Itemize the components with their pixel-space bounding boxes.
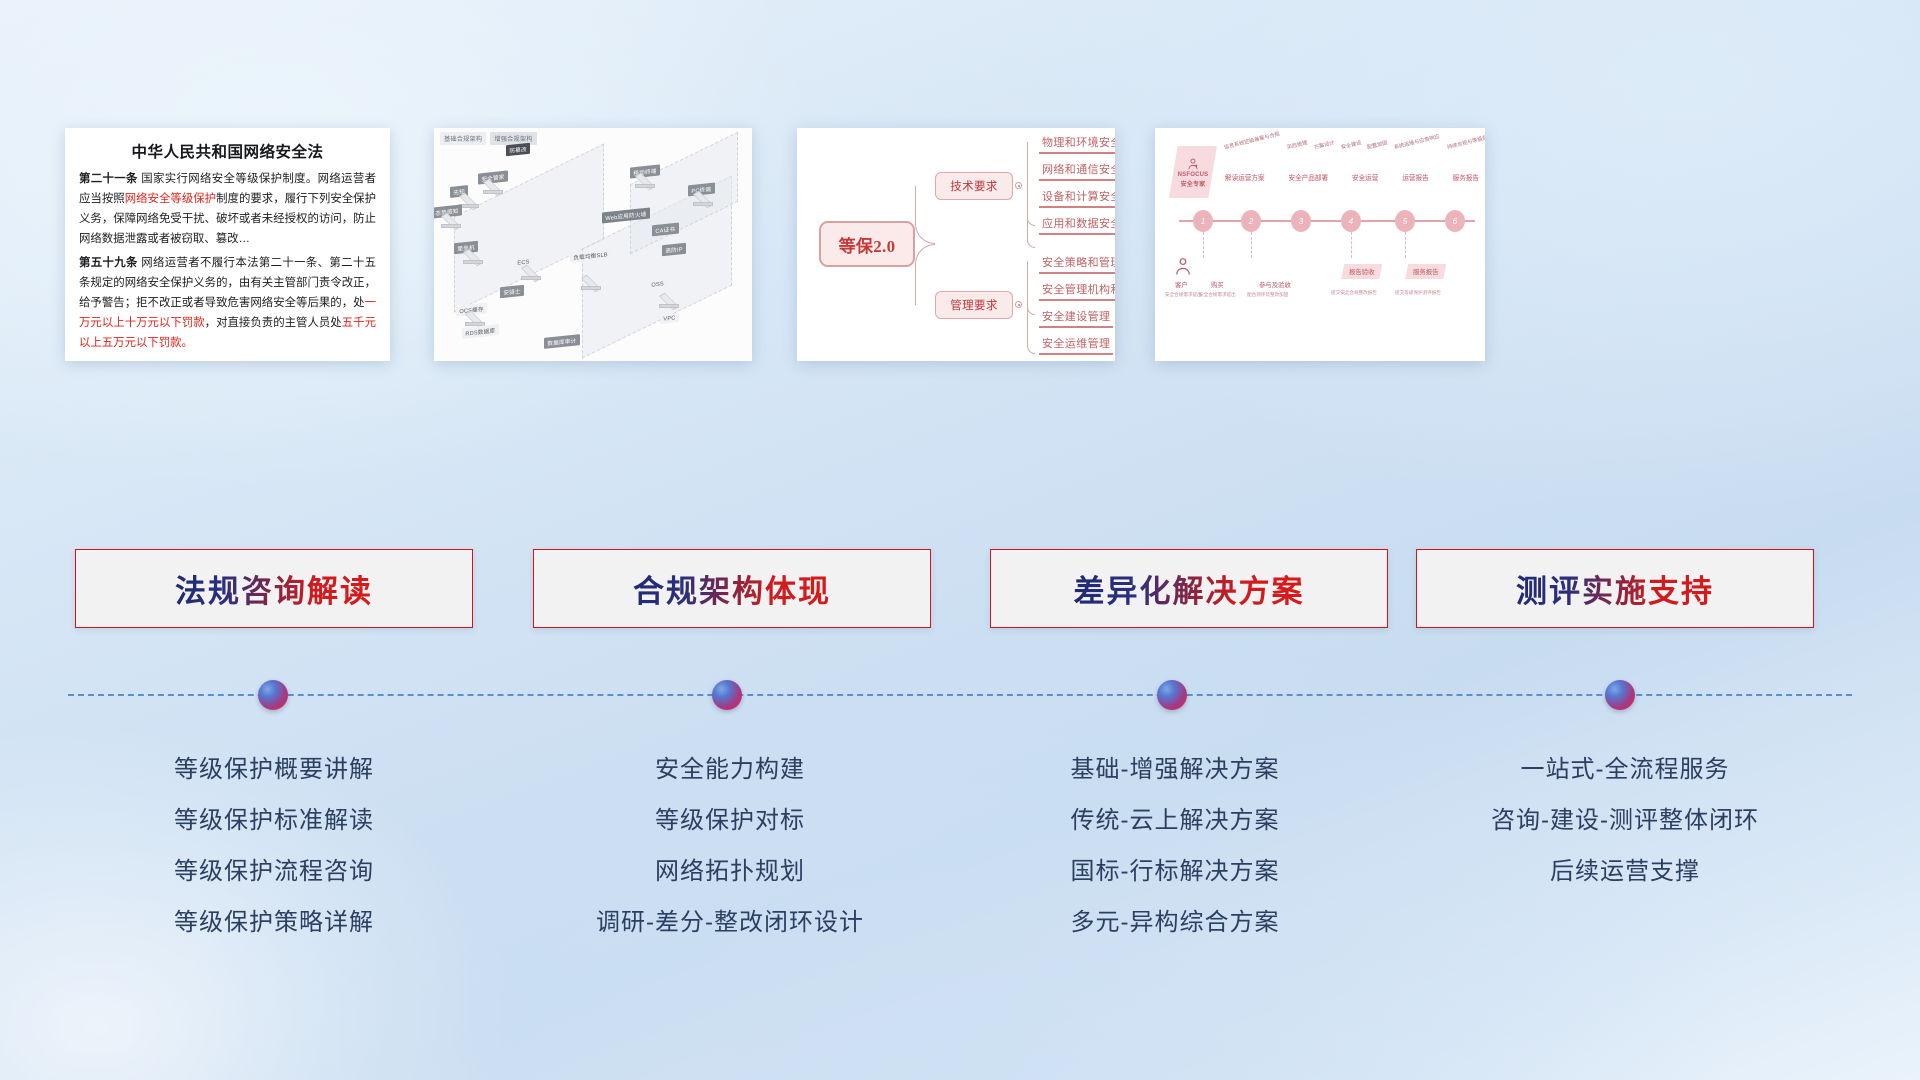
detail-item-4-2: 咨询-建设-测评整体闭环 [1415,796,1835,847]
detail-item-1-3: 等级保护流程咨询 [64,847,484,898]
detail-column-3: 基础-增强解决方案 传统-云上解决方案 国标-行标解决方案 多元-异构综合方案 [965,745,1385,949]
detail-item-2-4: 调研-差分-整改闭环设计 [520,898,940,949]
section-label-box-1[interactable]: 法规咨询解读 [75,549,473,628]
detail-item-2-1: 安全能力构建 [520,745,940,796]
detail-item-3-2: 传统-云上解决方案 [965,796,1385,847]
timeline-marker-1[interactable] [258,680,288,710]
detail-column-1: 等级保护概要讲解 等级保护标准解读 等级保护流程咨询 等级保护策略详解 [64,745,484,949]
detail-item-3-3: 国标-行标解决方案 [965,847,1385,898]
detail-item-1-1: 等级保护概要讲解 [64,745,484,796]
section-label-box-3[interactable]: 差异化解决方案 [990,549,1388,628]
slide-canvas: 中华人民共和国网络安全法 第二十一条 国家实行网络安全等级保护制度。网络运营者应… [0,0,1920,1080]
section-label-text-3: 差异化解决方案 [1074,566,1305,611]
detail-item-2-2: 等级保护对标 [520,796,940,847]
detail-item-3-4: 多元-异构综合方案 [965,898,1385,949]
detail-column-4: 一站式-全流程服务 咨询-建设-测评整体闭环 后续运营支撑 [1415,745,1835,898]
timeline-marker-2[interactable] [712,680,742,710]
section-label-text-4: 测评实施支持 [1516,566,1714,611]
detail-item-1-4: 等级保护策略详解 [64,898,484,949]
section-label-box-2[interactable]: 合规架构体现 [533,549,931,628]
detail-item-2-3: 网络拓扑规划 [520,847,940,898]
section-label-box-4[interactable]: 测评实施支持 [1416,549,1814,628]
detail-item-4-3: 后续运营支撑 [1415,847,1835,898]
detail-item-3-1: 基础-增强解决方案 [965,745,1385,796]
timeline-dashed-line [68,694,1852,696]
section-label-text-2: 合规架构体现 [633,566,831,611]
detail-item-1-2: 等级保护标准解读 [64,796,484,847]
detail-item-4-1: 一站式-全流程服务 [1415,745,1835,796]
detail-column-2: 安全能力构建 等级保护对标 网络拓扑规划 调研-差分-整改闭环设计 [520,745,940,949]
timeline-marker-3[interactable] [1157,680,1187,710]
section-label-text-1: 法规咨询解读 [175,566,373,611]
timeline-marker-4[interactable] [1605,680,1635,710]
